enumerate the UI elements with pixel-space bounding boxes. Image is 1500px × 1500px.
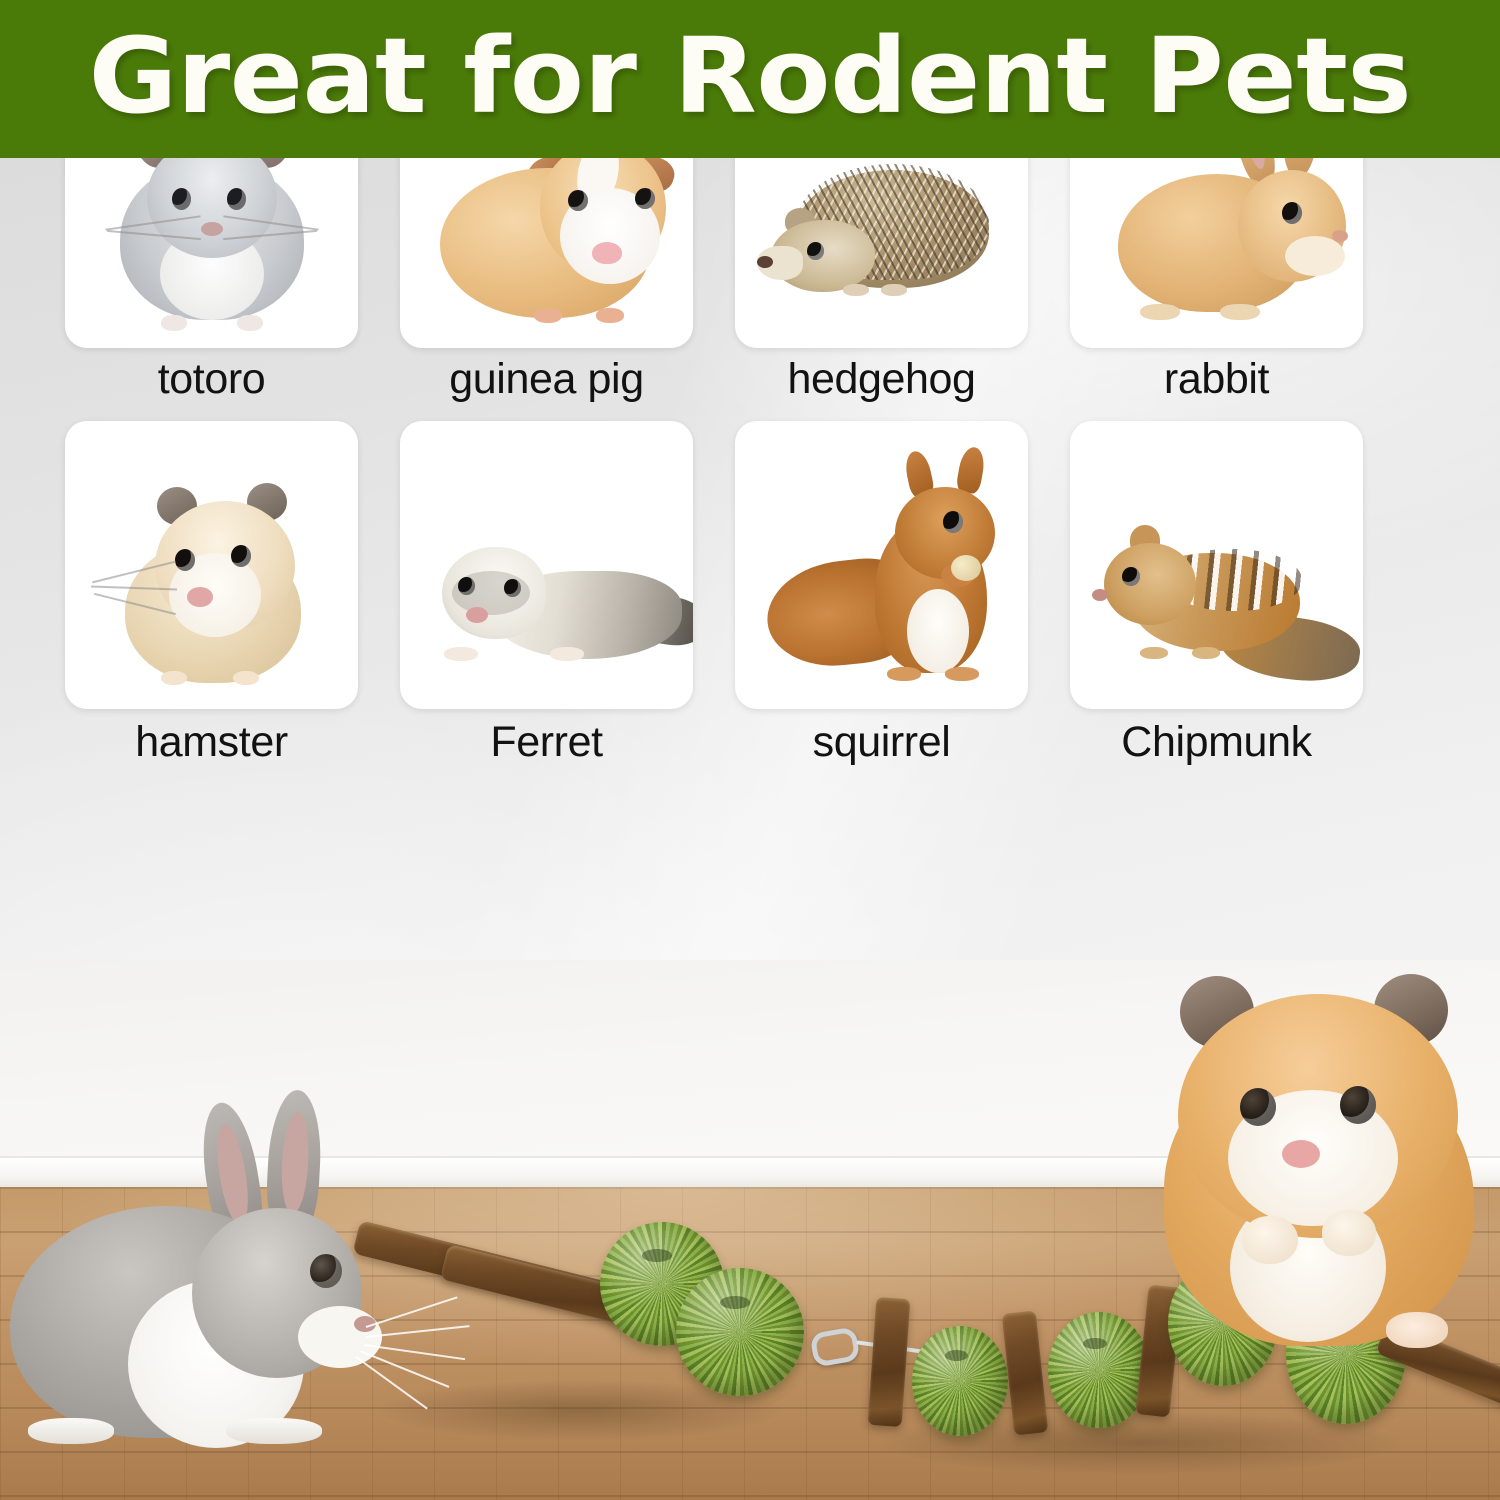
guinea-pig-eye-right bbox=[635, 188, 655, 209]
hamster-paw-right bbox=[233, 671, 259, 685]
animal-card[interactable] bbox=[735, 421, 1028, 709]
animal-label: Chipmunk bbox=[1070, 719, 1363, 766]
scene-rabbit bbox=[10, 1130, 440, 1500]
animal-label: hamster bbox=[65, 719, 358, 766]
rabbit-eye bbox=[310, 1254, 342, 1288]
animal-label: rabbit bbox=[1070, 356, 1363, 403]
animal-label: guinea pig bbox=[400, 356, 693, 403]
guinea-pig-paw-right bbox=[596, 308, 624, 323]
gallery-item-squirrel[interactable]: squirrel bbox=[735, 421, 1028, 766]
squirrel-foot-left bbox=[887, 667, 921, 681]
squirrel-photo bbox=[735, 421, 1028, 709]
scene-hamster bbox=[1130, 960, 1500, 1380]
infographic-page: Great for Rodent Pets bbox=[0, 0, 1500, 1500]
rabbit-foot-front bbox=[1220, 304, 1260, 320]
guinea-pig-paw-left bbox=[534, 308, 562, 323]
ferret-photo bbox=[400, 421, 693, 709]
animal-label: squirrel bbox=[735, 719, 1028, 766]
timothy-grass-ball bbox=[912, 1326, 1008, 1436]
header-banner: Great for Rodent Pets bbox=[0, 0, 1500, 158]
chipmunk-nose bbox=[1092, 589, 1108, 601]
chinchilla-eye-left bbox=[172, 188, 191, 210]
animal-card[interactable] bbox=[1070, 421, 1363, 709]
rabbit-nose bbox=[1332, 230, 1348, 242]
hamster-nose bbox=[1282, 1140, 1320, 1168]
squirrel-belly bbox=[907, 589, 969, 673]
hedgehog-eye bbox=[807, 242, 824, 260]
hedgehog-foot-back bbox=[881, 284, 907, 296]
lifestyle-scene bbox=[0, 960, 1500, 1500]
timothy-grass-ball bbox=[676, 1268, 804, 1396]
chipmunk-foot-back bbox=[1192, 647, 1220, 659]
hedgehog-nose bbox=[757, 256, 773, 268]
guinea-pig-nose bbox=[592, 242, 622, 264]
guinea-pig-eye-left bbox=[568, 190, 588, 211]
chinchilla-eye-right bbox=[227, 188, 246, 210]
hedgehog-foot-front bbox=[843, 284, 869, 296]
page-title: Great for Rodent Pets bbox=[89, 24, 1412, 128]
gallery-item-ferret[interactable]: Ferret bbox=[400, 421, 693, 766]
rabbit-foot-front bbox=[226, 1418, 322, 1444]
chipmunk-photo bbox=[1070, 421, 1363, 709]
animal-label: totoro bbox=[65, 356, 358, 403]
hamster-eye-left bbox=[1240, 1088, 1276, 1126]
animal-card[interactable] bbox=[400, 421, 693, 709]
animal-label: hedgehog bbox=[735, 356, 1028, 403]
hamster-eye-right bbox=[1340, 1086, 1376, 1124]
gallery-item-hamster[interactable]: hamster bbox=[65, 421, 358, 766]
animal-label: Ferret bbox=[400, 719, 693, 766]
ferret-paw-right bbox=[550, 647, 584, 661]
animal-gallery-grid: totoro guinea pig bbox=[65, 60, 1370, 767]
hamster-foot bbox=[1386, 1312, 1448, 1348]
rabbit-foot-back bbox=[1140, 304, 1180, 320]
rabbit-cheek bbox=[1285, 236, 1345, 276]
hamster-paw-right bbox=[1322, 1210, 1376, 1256]
chinchilla-nose bbox=[201, 222, 223, 236]
chinchilla-foot-right bbox=[237, 315, 263, 331]
hamster-paw-left bbox=[161, 671, 187, 685]
gallery-item-chipmunk[interactable]: Chipmunk bbox=[1070, 421, 1363, 766]
chipmunk-foot-front bbox=[1140, 647, 1168, 659]
animal-card[interactable] bbox=[65, 421, 358, 709]
squirrel-ear-right bbox=[955, 446, 987, 495]
rabbit-eye bbox=[1282, 202, 1302, 224]
squirrel-foot-right bbox=[945, 667, 979, 681]
ferret-paw-left bbox=[444, 647, 478, 661]
rabbit-foot-back bbox=[28, 1418, 114, 1444]
hamster-photo bbox=[65, 421, 358, 709]
chipmunk-head bbox=[1104, 543, 1196, 625]
hamster-paw-left bbox=[1242, 1216, 1298, 1264]
chinchilla-foot-left bbox=[161, 315, 187, 331]
